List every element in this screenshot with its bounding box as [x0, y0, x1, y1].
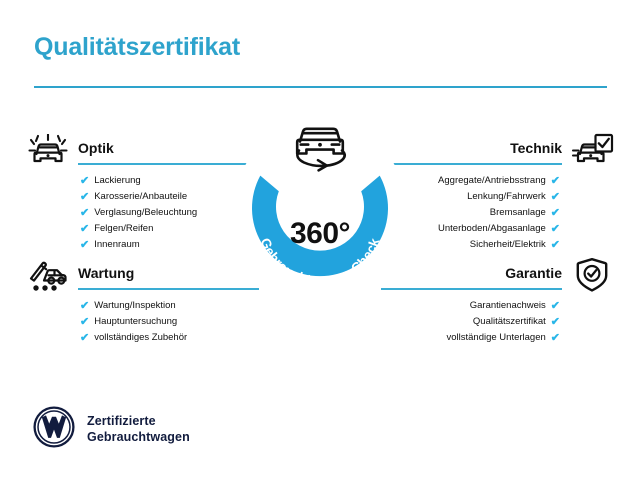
vw-lockup-text: Zertifizierte Gebrauchtwagen: [87, 414, 190, 445]
check-icon: ✔: [551, 240, 560, 251]
section-header-optik: Optik: [22, 133, 272, 167]
list-item-label: Sicherheit/Elektrik: [470, 240, 546, 250]
checklist-optik: ✔Lackierung ✔Karosserie/Anbauteile ✔Verg…: [22, 173, 272, 253]
list-item-label: Hauptuntersuchung: [94, 317, 177, 327]
check-icon: ✔: [80, 224, 89, 235]
check-icon: ✔: [80, 192, 89, 203]
check-icon: ✔: [551, 301, 560, 312]
car-lift-service-icon: [24, 258, 72, 292]
list-item: ✔Innenraum: [22, 237, 272, 253]
list-item-label: Lackierung: [94, 176, 140, 186]
list-item-label: Bremsanlage: [490, 208, 546, 218]
vw-lockup-line1: Zertifizierte: [87, 414, 156, 428]
page-title: Qualitätszertifikat: [34, 33, 240, 62]
list-item-label: Qualitätszertifikat: [473, 317, 546, 327]
section-title-optik: Optik: [78, 140, 114, 156]
car-shine-icon: [24, 133, 72, 167]
check-icon: ✔: [551, 333, 560, 344]
list-item: ✔vollständige Unterlagen: [368, 330, 618, 346]
car-checkbox-icon: [568, 133, 616, 167]
check-icon: ✔: [551, 176, 560, 187]
check-icon: ✔: [80, 208, 89, 219]
list-item-label: Wartung/Inspektion: [94, 301, 176, 311]
list-item-label: Unterboden/Abgasanlage: [438, 224, 546, 234]
list-item: ✔Qualitätszertifikat: [368, 314, 618, 330]
list-item: ✔Unterboden/Abgasanlage: [368, 221, 618, 237]
list-item: ✔Garantienachweis: [368, 298, 618, 314]
check-icon: ✔: [551, 317, 560, 328]
badge-ring-graphic: Gebrauchtwagen-Check: [236, 117, 404, 295]
list-item: ✔Wartung/Inspektion: [22, 298, 272, 314]
check-icon: ✔: [80, 301, 89, 312]
vw-lockup-line2: Gebrauchtwagen: [87, 430, 190, 444]
list-item: ✔Lenkung/Fahrwerk: [368, 189, 618, 205]
section-divider-technik: [381, 163, 562, 165]
section-divider-optik: [78, 163, 259, 165]
section-divider-wartung: [78, 288, 259, 290]
section-garantie: Garantie ✔Garantienachweis ✔Qualitätszer…: [368, 258, 618, 340]
volkswagen-logo: [33, 406, 75, 453]
title-divider: [34, 86, 607, 88]
checklist-garantie: ✔Garantienachweis ✔Qualitätszertifikat ✔…: [368, 298, 618, 346]
list-item: ✔Felgen/Reifen: [22, 221, 272, 237]
shield-check-icon: [568, 258, 616, 292]
section-wartung: Wartung ✔Wartung/Inspektion ✔Hauptunters…: [22, 258, 272, 340]
list-item-label: Verglasung/Beleuchtung: [94, 208, 197, 218]
section-title-wartung: Wartung: [78, 265, 134, 281]
check-icon: ✔: [80, 317, 89, 328]
section-header-garantie: Garantie: [368, 258, 618, 292]
list-item: ✔Bremsanlage: [368, 205, 618, 221]
section-divider-garantie: [381, 288, 562, 290]
list-item: ✔Lackierung: [22, 173, 272, 189]
list-item-label: Garantienachweis: [470, 301, 546, 311]
list-item: ✔Hauptuntersuchung: [22, 314, 272, 330]
list-item: ✔Verglasung/Beleuchtung: [22, 205, 272, 221]
list-item-label: Innenraum: [94, 240, 139, 250]
list-item: ✔Sicherheit/Elektrik: [368, 237, 618, 253]
list-item: ✔vollständiges Zubehör: [22, 330, 272, 346]
section-optik: Optik ✔Lackierung ✔Karosserie/Anbauteile…: [22, 133, 272, 247]
section-technik: Technik ✔Aggregate/Antriebsstrang ✔Lenku…: [368, 133, 618, 247]
section-header-wartung: Wartung: [22, 258, 272, 292]
check-icon: ✔: [80, 176, 89, 187]
section-title-technik: Technik: [510, 140, 562, 156]
checklist-technik: ✔Aggregate/Antriebsstrang ✔Lenkung/Fahrw…: [368, 173, 618, 253]
list-item-label: vollständige Unterlagen: [446, 333, 545, 343]
list-item-label: Lenkung/Fahrwerk: [467, 192, 546, 202]
car-rotate-360-icon: [297, 129, 345, 171]
check-icon: ✔: [551, 192, 560, 203]
list-item-label: Karosserie/Anbauteile: [94, 192, 187, 202]
vw-brand-lockup: Zertifizierte Gebrauchtwagen: [33, 406, 190, 453]
check-icon: ✔: [80, 240, 89, 251]
list-item-label: vollständiges Zubehör: [94, 333, 187, 343]
badge-center-value: 360°: [236, 217, 404, 251]
section-header-technik: Technik: [368, 133, 618, 167]
check-icon: ✔: [80, 333, 89, 344]
list-item-label: Aggregate/Antriebsstrang: [438, 176, 546, 186]
checklist-wartung: ✔Wartung/Inspektion ✔Hauptuntersuchung ✔…: [22, 298, 272, 346]
list-item: ✔Aggregate/Antriebsstrang: [368, 173, 618, 189]
qualitaetszertifikat-page: Qualitätszertifikat: [0, 0, 640, 480]
badge-360-gebrauchtwagen-check: Gebrauchtwagen-Check 360°: [236, 117, 404, 295]
list-item: ✔Karosserie/Anbauteile: [22, 189, 272, 205]
list-item-label: Felgen/Reifen: [94, 224, 153, 234]
check-icon: ✔: [551, 208, 560, 219]
check-icon: ✔: [551, 224, 560, 235]
section-title-garantie: Garantie: [505, 265, 562, 281]
